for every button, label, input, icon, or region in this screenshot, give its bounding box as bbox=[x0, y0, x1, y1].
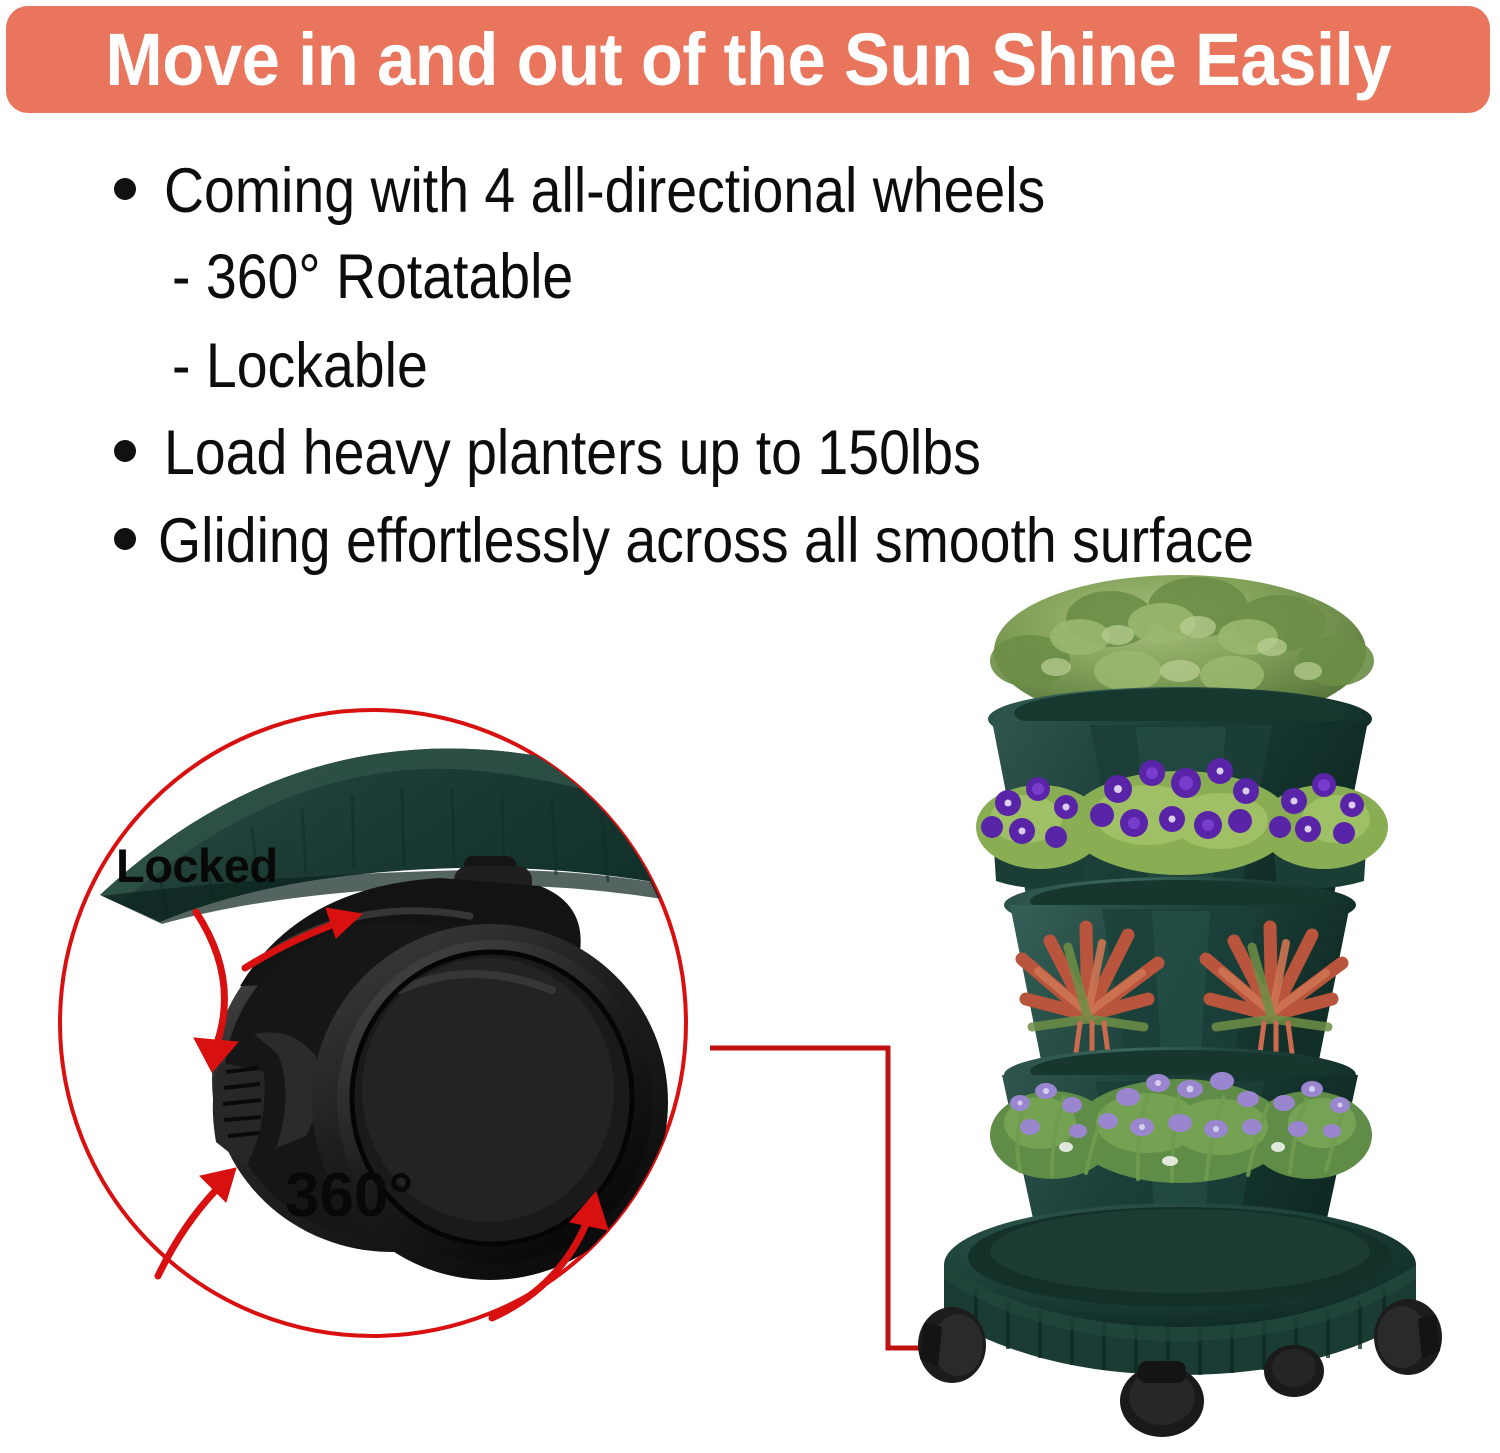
rolling-caddy-base bbox=[918, 1203, 1442, 1437]
planter-tier-purple-flowers bbox=[976, 721, 1388, 933]
feature-text: Gliding effortlessly across all smooth s… bbox=[158, 510, 1254, 573]
rotation-arrow-left-icon bbox=[158, 1168, 236, 1276]
locked-label: Locked bbox=[116, 838, 278, 893]
feature-subtext: - Lockable bbox=[172, 335, 428, 398]
locked-arrow-down-icon bbox=[194, 912, 238, 1072]
bullet-icon bbox=[114, 178, 136, 200]
feature-subtext: - 360° Rotatable bbox=[172, 246, 573, 309]
caster-wheel-right bbox=[1374, 1299, 1442, 1375]
feature-text: Coming with 4 all-directional wheels bbox=[164, 160, 1045, 223]
planter-tier-red-foliage bbox=[1004, 905, 1356, 1103]
rotation-label: 360° bbox=[285, 1160, 413, 1231]
page-title: Move in and out of the Sun Shine Easily bbox=[105, 17, 1391, 102]
caster-wheel-back bbox=[1264, 1345, 1324, 1397]
feature-text: Load heavy planters up to 150lbs bbox=[164, 422, 981, 485]
stackable-planter-illustration bbox=[880, 575, 1500, 1450]
bullet-icon bbox=[114, 440, 136, 462]
caster-wheel-left bbox=[918, 1307, 986, 1383]
header-banner: Move in and out of the Sun Shine Easily bbox=[6, 6, 1490, 113]
bullet-icon bbox=[114, 528, 136, 550]
